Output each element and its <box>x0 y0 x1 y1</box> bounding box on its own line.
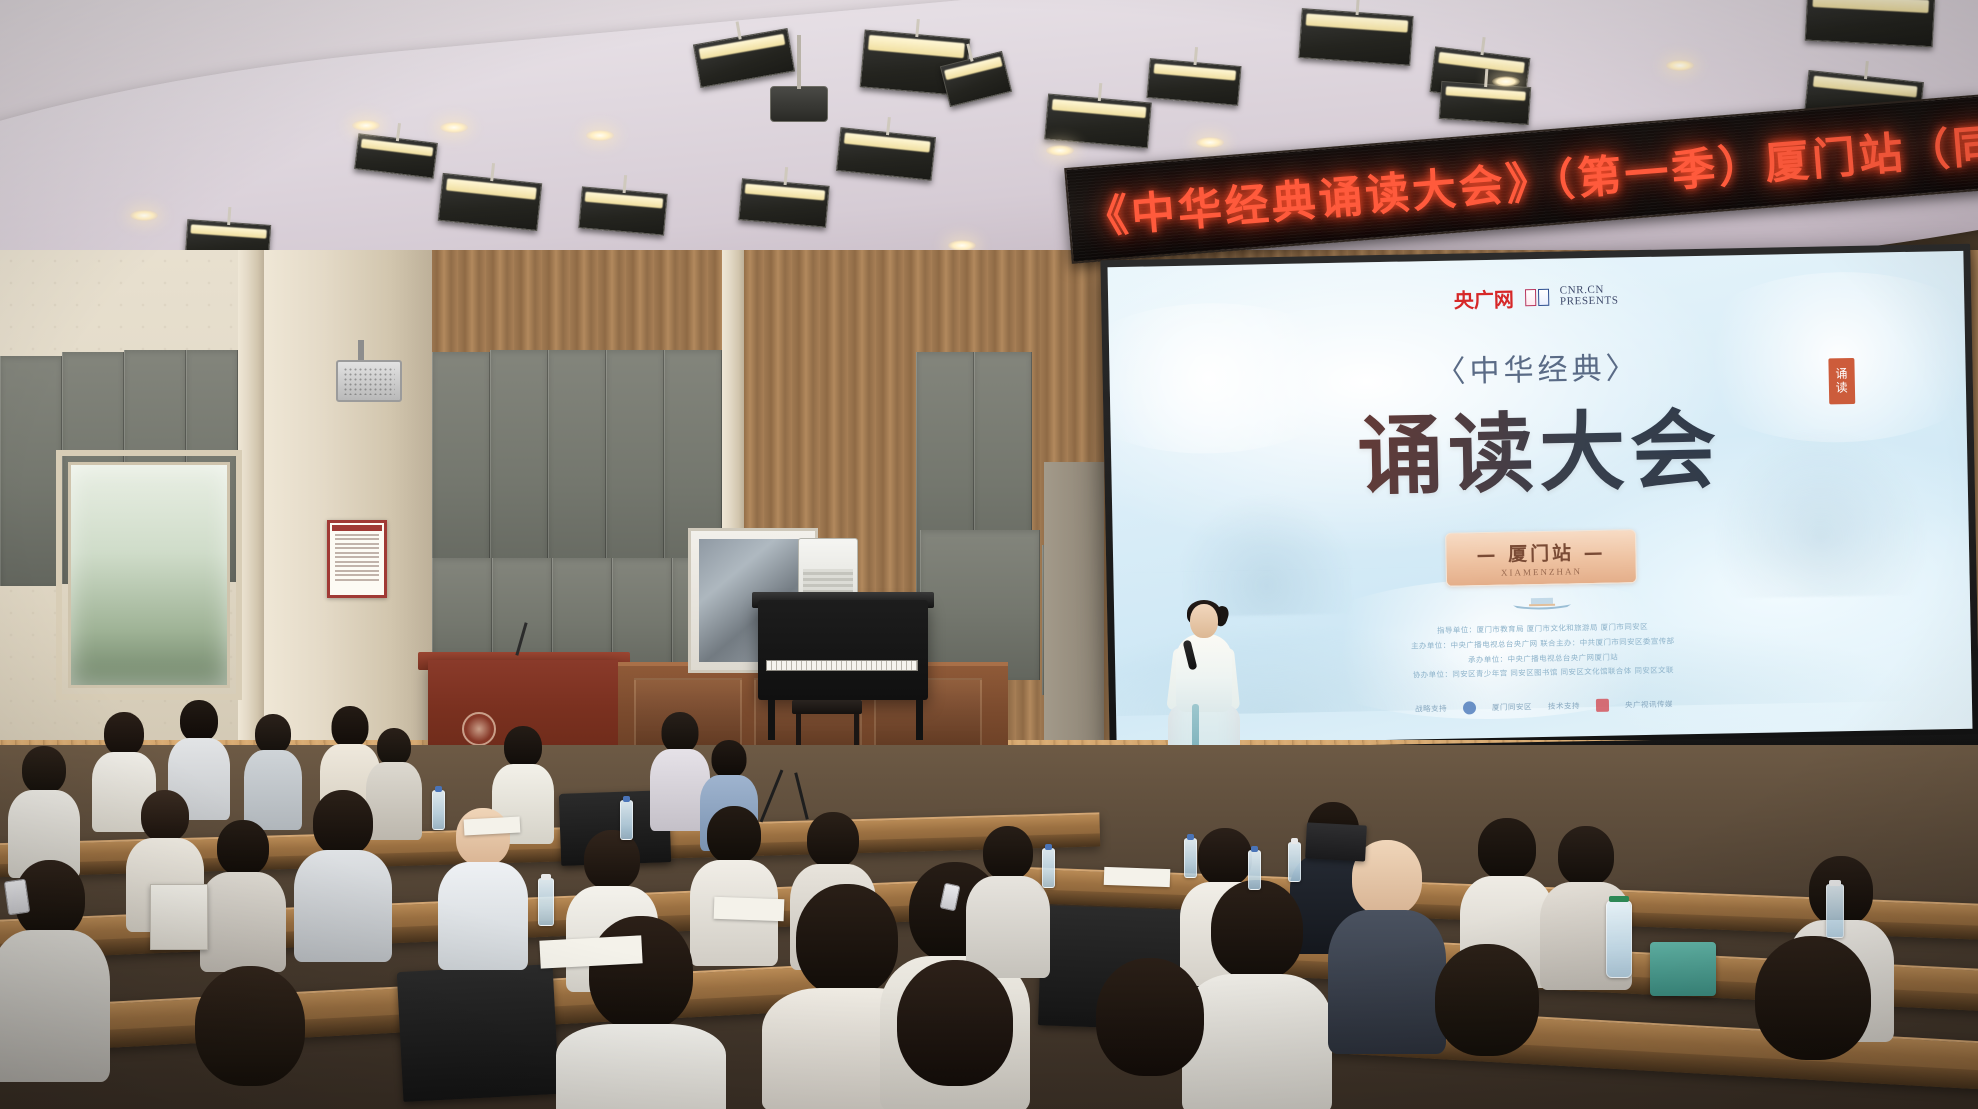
wall-column-far-right <box>1044 462 1104 762</box>
piano-leg <box>768 700 775 740</box>
ceiling-downlight <box>352 120 380 131</box>
person-head <box>180 700 218 742</box>
person-head <box>589 916 693 1030</box>
cnr-logo-en: CNR.CN PRESENTS <box>1560 284 1619 308</box>
ceiling-downlight <box>130 210 158 221</box>
water-bottle[interactable] <box>432 790 445 830</box>
sponsor-mark-icon <box>1463 701 1476 714</box>
sponsor-mark-icon <box>1596 699 1609 712</box>
boat-decor <box>1507 593 1577 610</box>
podium-emblem <box>462 712 496 746</box>
person-head <box>662 712 699 753</box>
sponsor-label: 战略支持 <box>1415 703 1447 715</box>
thermos-bottle[interactable] <box>1606 900 1632 978</box>
ceiling-light-fixture <box>738 178 829 228</box>
ceiling-downlight <box>1046 145 1074 156</box>
person-head <box>377 728 411 766</box>
poster-city-badge-cn: — 厦门站 — <box>1476 538 1606 567</box>
person-torso <box>200 872 286 972</box>
notebook-paper[interactable] <box>714 897 785 921</box>
person-head <box>807 812 859 868</box>
piano-leg <box>916 700 923 740</box>
cnr-logo-marks <box>1525 289 1549 306</box>
audience-person <box>1718 936 1908 1109</box>
poster-city-badge-en: XIAMENZHAN <box>1477 566 1606 578</box>
chair-back <box>397 964 560 1102</box>
acoustic-panel <box>920 530 1040 680</box>
water-bottle[interactable] <box>1288 842 1301 882</box>
audience-person <box>294 790 392 958</box>
auditorium-scene: 《中华经典诵读大会》（第一季）厦门站（同安区）线下甄选 央广网 CNR.CN P… <box>0 0 1978 1109</box>
person-head <box>712 740 747 778</box>
person-head <box>897 960 1013 1086</box>
sponsor-name: 央广视讯传媒 <box>1625 699 1673 711</box>
ceiling-light-fixture <box>1805 0 1936 47</box>
ceiling-light-fixture <box>1044 94 1152 149</box>
sponsor-name: 厦门同安区 <box>1492 701 1532 713</box>
ceiling-downlight <box>1666 60 1694 71</box>
ceiling-light-fixture <box>1298 8 1413 66</box>
speaker-bracket <box>358 340 364 362</box>
audience-person <box>200 820 286 970</box>
green-bag[interactable] <box>1650 942 1716 996</box>
laptop[interactable] <box>1305 822 1367 861</box>
audience-person <box>1402 944 1572 1109</box>
cnr-logo: 央广网 <box>1454 283 1515 313</box>
person-head <box>1198 828 1252 886</box>
person-torso <box>556 1024 726 1109</box>
person-head <box>104 712 144 756</box>
ceiling-light-fixture <box>1146 58 1241 106</box>
person-head <box>1558 826 1614 886</box>
audience-person <box>8 746 80 876</box>
poster-city-badge: — 厦门站 — XIAMENZHAN <box>1445 530 1637 588</box>
poster-seal: 诵读 <box>1828 358 1855 404</box>
performer-head <box>1190 604 1218 638</box>
sponsor-label: 技术支持 <box>1548 700 1580 712</box>
bench-leg <box>854 714 859 748</box>
person-torso <box>438 862 528 970</box>
water-bottle[interactable] <box>620 800 633 840</box>
audience-person <box>966 826 1050 976</box>
wall-speaker <box>336 360 402 402</box>
mobile-phone[interactable] <box>4 879 31 916</box>
ceiling-downlight <box>1196 137 1224 148</box>
piano-bench <box>792 700 862 714</box>
water-bottle[interactable] <box>1042 848 1055 888</box>
notebook-paper[interactable] <box>1104 867 1171 887</box>
tote-bag[interactable] <box>150 884 208 950</box>
person-head <box>141 790 189 842</box>
ceiling-downlight <box>586 130 614 141</box>
ceiling-projector <box>770 86 828 122</box>
cnr-logo-cn: 央广网 <box>1454 283 1515 313</box>
ceiling-light-fixture <box>578 186 667 235</box>
notebook-paper[interactable] <box>464 817 521 836</box>
person-head <box>1096 958 1204 1076</box>
notebook-paper[interactable] <box>539 935 642 968</box>
person-head <box>195 966 305 1086</box>
person-head <box>1478 818 1536 880</box>
ceiling-light-fixture <box>438 173 542 231</box>
ceiling-downlight <box>440 122 468 133</box>
person-head <box>1435 944 1539 1056</box>
piano-keyboard <box>766 660 918 671</box>
open-doorway[interactable] <box>68 462 230 688</box>
framed-regulations-poster <box>327 520 387 598</box>
water-bottle[interactable] <box>1184 838 1197 878</box>
cnr-logo-en-line2: PRESENTS <box>1560 296 1619 309</box>
person-head <box>504 726 542 768</box>
person-head <box>217 820 269 876</box>
upright-piano <box>758 600 928 700</box>
person-torso <box>0 930 110 1082</box>
audience-person <box>160 966 340 1109</box>
person-head <box>22 746 66 794</box>
boat-icon <box>1507 593 1577 610</box>
ceiling-downlight <box>1492 76 1520 87</box>
person-head <box>332 706 369 748</box>
person-head <box>255 714 291 754</box>
acoustic-panel <box>490 350 548 590</box>
ceiling-light-fixture <box>1439 81 1531 125</box>
bench-leg <box>796 714 801 748</box>
person-head <box>313 790 373 856</box>
person-head <box>1755 936 1871 1060</box>
audience-person <box>1060 958 1240 1109</box>
acoustic-panel <box>432 352 490 590</box>
person-torso <box>294 850 392 962</box>
audience-person <box>860 960 1050 1109</box>
person-head <box>707 806 761 864</box>
water-bottle[interactable] <box>1248 850 1261 890</box>
water-bottle[interactable] <box>1826 884 1844 938</box>
person-head <box>983 826 1033 880</box>
acoustic-panel <box>0 356 62 586</box>
acoustic-panel <box>548 350 606 592</box>
water-bottle[interactable] <box>538 878 554 926</box>
